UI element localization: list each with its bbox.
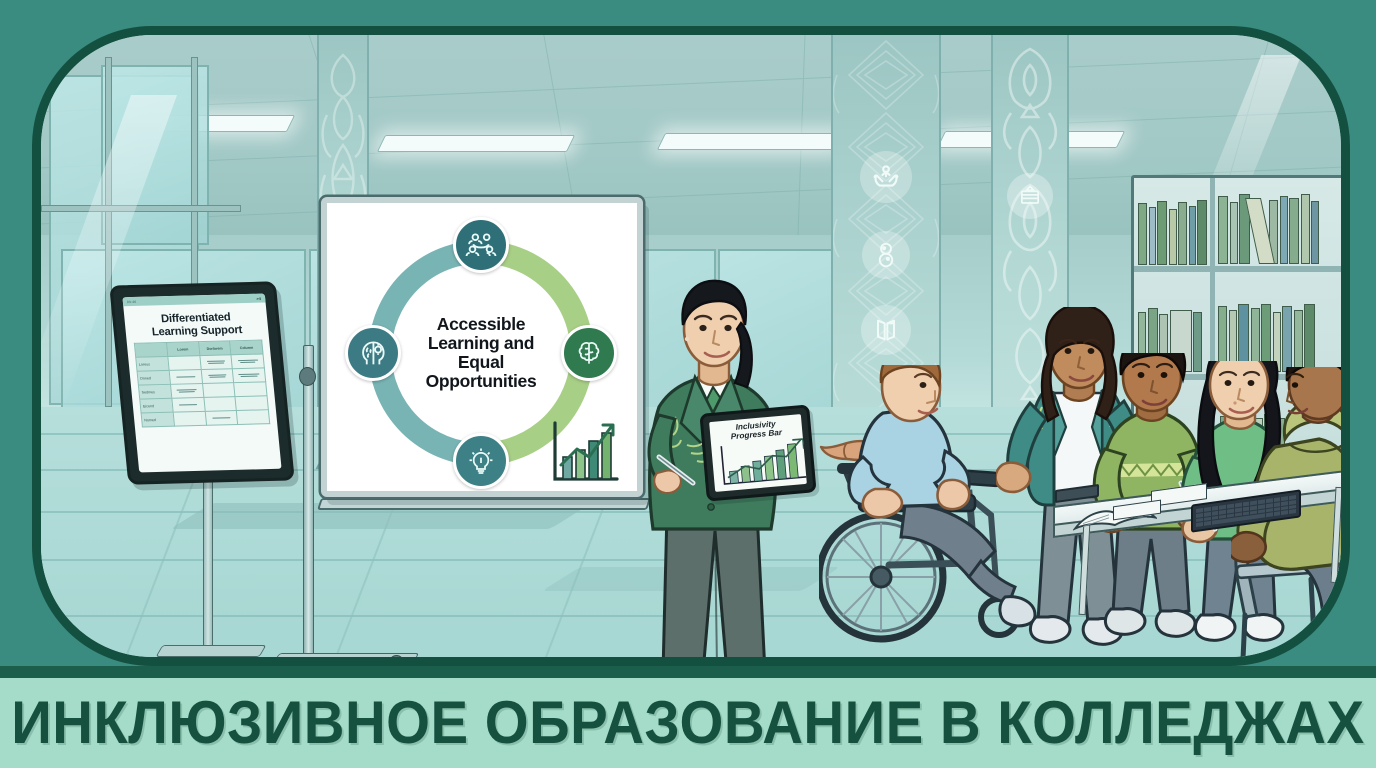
banner-divider-strip bbox=[0, 666, 1376, 678]
poster-display-stand[interactable]: 09:46 ▰▮ Differentiated Learning Support… bbox=[119, 283, 295, 657]
diagram-center-text: Accessible Learning and Equal Opportunit… bbox=[406, 315, 556, 391]
whiteboard-pole bbox=[303, 345, 314, 657]
infinity-people-icon bbox=[862, 231, 910, 279]
stand-foot bbox=[156, 645, 267, 657]
poster-screen: 09:46 ▰▮ Differentiated Learning Support… bbox=[122, 294, 281, 473]
brain-icon bbox=[561, 325, 617, 381]
poster-title: Differentiated Learning Support bbox=[131, 311, 262, 339]
illustration-canvas: 09:46 ▰▮ Differentiated Learning Support… bbox=[0, 0, 1376, 768]
book-stack-icon bbox=[1007, 173, 1053, 219]
book-hand-icon bbox=[861, 305, 911, 355]
whiteboard-marker-tray bbox=[317, 498, 651, 510]
head-brain-gear-icon bbox=[345, 325, 401, 381]
poster-tablet[interactable]: 09:46 ▰▮ Differentiated Learning Support… bbox=[109, 281, 295, 484]
whiteboard-adjust-knob[interactable] bbox=[299, 367, 316, 386]
wifi-battery-icon: ▰▮ bbox=[256, 296, 261, 300]
lightbulb-icon bbox=[453, 433, 509, 489]
th-col3: Column bbox=[230, 340, 263, 355]
th-blank bbox=[134, 343, 167, 358]
window-mullion bbox=[41, 205, 241, 212]
title-banner: ИНКЛЮЗИВНОЕ ОБРАЗОВАНИЕ В КОЛЛЕДЖАХ bbox=[0, 678, 1376, 768]
people-group-icon bbox=[453, 217, 509, 273]
classroom-scene: 09:46 ▰▮ Differentiated Learning Support… bbox=[41, 35, 1341, 657]
tablet-bar-chart bbox=[713, 434, 807, 491]
poster-table: Lorem Dorlorem Column Loreus bbox=[134, 340, 270, 428]
status-time: 09:46 bbox=[127, 299, 137, 303]
table-row: Nomed bbox=[141, 410, 270, 427]
scene-frame: 09:46 ▰▮ Differentiated Learning Support… bbox=[32, 26, 1350, 666]
ceiling-light bbox=[657, 133, 845, 150]
cycle-diagram: Accessible Learning and Equal Opportunit… bbox=[349, 221, 613, 485]
hands-flower-icon bbox=[860, 151, 912, 203]
whiteboard-surface[interactable]: Accessible Learning and Equal Opportunit… bbox=[321, 197, 643, 497]
ceiling-light bbox=[377, 135, 575, 152]
status-bar: 09:46 ▰▮ bbox=[122, 294, 265, 307]
th-col2: Dorlorem bbox=[198, 341, 231, 356]
whiteboard-on-stand[interactable]: Accessible Learning and Equal Opportunit… bbox=[303, 185, 643, 657]
growth-bar-chart-icon bbox=[547, 417, 621, 487]
held-tablet[interactable]: Inclusivity Progress Bar bbox=[699, 404, 816, 501]
th-col1: Lorem bbox=[166, 342, 199, 357]
banner-title: ИНКЛЮЗИВНОЕ ОБРАЗОВАНИЕ В КОЛЛЕДЖАХ bbox=[11, 693, 1364, 753]
